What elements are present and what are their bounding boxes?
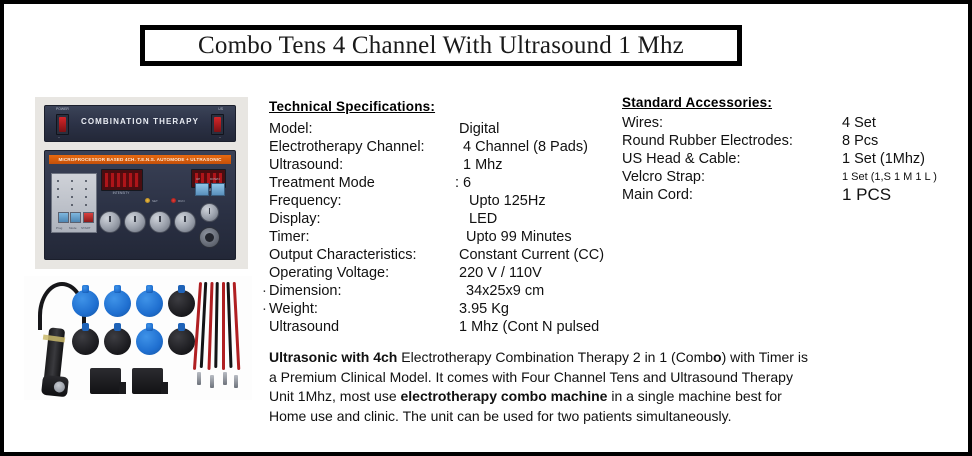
- matrix-indicator-dot: [71, 188, 73, 190]
- spec-row: US Head & Cable:1 Set (1Mhz): [622, 150, 962, 168]
- matrix-indicator-dot: [85, 188, 87, 190]
- power-switch-label: POWER: [56, 107, 69, 111]
- spec-label: Dimension:: [269, 282, 342, 300]
- spec-value: LED: [469, 210, 497, 228]
- spec-row: Timer:Upto 99 Minutes: [269, 228, 629, 246]
- mode-button: [70, 212, 81, 223]
- intensity-led-display: [101, 169, 143, 191]
- spec-row: Ultrasound1 Mhz (Cont N pulsed: [269, 318, 629, 336]
- electrode-pad: [136, 328, 163, 355]
- spec-label: Display:: [269, 210, 321, 228]
- spec-label: Model:: [269, 120, 313, 138]
- accessories-product-photo: [24, 276, 252, 400]
- channel-3-knob: [149, 211, 171, 233]
- lead-wire: [227, 282, 233, 368]
- spec-label: Treatment Mode: [269, 174, 375, 192]
- spec-row: Round Rubber Electrodes:8 Pcs: [622, 132, 962, 150]
- spec-value: 1 Mhz: [463, 156, 503, 174]
- spec-row: Treatment Mode: 6: [269, 174, 629, 192]
- product-description: Ultrasonic with 4ch Electrotherapy Combi…: [269, 348, 809, 426]
- ultrasound-connector-port: [199, 227, 220, 248]
- spec-value: 220 V / 110V: [459, 264, 542, 282]
- run-indicator-led: [171, 198, 176, 203]
- spec-row: Main Cord:1 PCS: [622, 186, 962, 204]
- ultrasound-switch-label: US: [218, 107, 223, 111]
- electrode-pad: [104, 328, 131, 355]
- spec-label: Output Characteristics:: [269, 246, 416, 264]
- spec-value: 34x25x9 cm: [466, 282, 544, 300]
- lead-wire: [207, 282, 213, 370]
- ultrasound-switch-sublabel: ~: [219, 136, 221, 140]
- spec-value: Digital: [459, 120, 499, 138]
- spec-label: Wires:: [622, 114, 663, 132]
- up-button-caption: UP: [196, 177, 200, 181]
- spec-label: Operating Voltage:: [269, 264, 389, 282]
- spec-value: Upto 125Hz: [469, 192, 546, 210]
- description-emphasis: Ultrasonic with 4ch: [269, 349, 397, 365]
- spec-value: 1 PCS: [842, 186, 891, 204]
- lead-wire: [214, 282, 219, 368]
- velcro-strap: [90, 368, 121, 394]
- spec-label: Velcro Strap:: [622, 168, 705, 186]
- spec-row: Operating Voltage:220 V / 110V: [269, 264, 629, 282]
- electrode-pad: [168, 290, 195, 317]
- spec-value: 3.95 Kg: [459, 300, 509, 318]
- matrix-indicator-dot: [71, 196, 73, 198]
- ultrasound-probe-head: [41, 375, 69, 398]
- spec-value: 4 Channel (8 Pads): [463, 138, 588, 156]
- spec-row: Electrotherapy Channel:4 Channel (8 Pads…: [269, 138, 629, 156]
- wire-plug: [210, 375, 214, 388]
- spec-row: Frequency:Upto 125Hz: [269, 192, 629, 210]
- electrode-pad: [72, 290, 99, 317]
- spec-row: Model:Digital: [269, 120, 629, 138]
- spec-label: Round Rubber Electrodes:: [622, 132, 793, 150]
- start-button: [83, 212, 94, 223]
- matrix-indicator-dot: [71, 204, 73, 206]
- spec-row: Wires:4 Set: [622, 114, 962, 132]
- technical-specifications-heading: Technical Specifications:: [269, 99, 435, 114]
- product-spec-sheet: Combo Tens 4 Channel With Ultrasound 1 M…: [0, 0, 972, 456]
- matrix-indicator-dot: [85, 196, 87, 198]
- page-title: Combo Tens 4 Channel With Ultrasound 1 M…: [198, 32, 684, 60]
- spec-label: US Head & Cable:: [622, 150, 740, 168]
- spec-label: Ultrasound:: [269, 156, 343, 174]
- spec-value: 1 Set (1Mhz): [842, 150, 925, 168]
- description-text: Electrotherapy Combination Therapy 2 in …: [397, 349, 713, 365]
- spec-value: 1 Mhz (Cont N pulsed: [459, 318, 599, 336]
- spec-row: Ultrasound:1 Mhz: [269, 156, 629, 174]
- down-button: [211, 183, 225, 196]
- matrix-indicator-dot: [57, 196, 59, 198]
- standard-accessories-heading: Standard Accessories:: [622, 95, 772, 110]
- spec-value: 4 Set: [842, 114, 876, 132]
- program-button: [58, 212, 69, 223]
- ultrasound-rocker-switch: [211, 114, 224, 135]
- matrix-indicator-dot: [71, 180, 73, 182]
- velcro-strap: [132, 368, 163, 394]
- set-indicator-label: SET: [152, 199, 158, 203]
- down-button-caption: DOWN: [210, 177, 220, 181]
- spec-label: Ultrasound: [269, 318, 339, 336]
- matrix-indicator-dot: [57, 180, 59, 182]
- mode-indicator-matrix: Prog Mode START: [51, 173, 97, 233]
- spec-row: Display:LED: [269, 210, 629, 228]
- ultrasound-intensity-knob: [200, 203, 219, 222]
- spec-value: 1 Set (1,S 1 M 1 L ): [842, 168, 937, 186]
- channel-2-knob: [124, 211, 146, 233]
- device-product-photo: POWER ~ COMBINATION THERAPY US ~ MICROPR…: [35, 97, 248, 269]
- electrode-pad: [72, 328, 99, 355]
- electrode-pad: [168, 328, 195, 355]
- lead-wire: [233, 282, 241, 370]
- start-button-caption: START: [81, 226, 91, 230]
- device-top-panel: POWER ~ COMBINATION THERAPY US ~: [44, 105, 236, 142]
- mode-button-caption: Mode: [69, 226, 77, 230]
- lead-wire: [222, 282, 225, 370]
- program-button-caption: Prog: [56, 226, 62, 230]
- device-brand-text: COMBINATION THERAPY: [45, 117, 235, 126]
- device-label-strip-text: MICROPROCESSOR BASED 4CH. T.E.N.S. AUTOM…: [58, 157, 221, 162]
- spec-label: Main Cord:: [622, 186, 693, 204]
- set-indicator-led: [145, 198, 150, 203]
- spec-value: Upto 99 Minutes: [466, 228, 572, 246]
- spec-row: Weight:3.95 Kg: [269, 300, 629, 318]
- wire-plug: [197, 372, 201, 385]
- wire-plug: [223, 372, 227, 385]
- device-control-panel: MICROPROCESSOR BASED 4CH. T.E.N.S. AUTOM…: [44, 150, 236, 260]
- run-indicator-label: RUN: [178, 199, 185, 203]
- spec-label: Frequency:: [269, 192, 342, 210]
- spec-row: Velcro Strap:1 Set (1,S 1 M 1 L ): [622, 168, 962, 186]
- spec-label: Timer:: [269, 228, 310, 246]
- intensity-display-caption: INTENSITY: [101, 191, 141, 195]
- description-emphasis: o: [713, 349, 722, 365]
- channel-1-knob: [99, 211, 121, 233]
- matrix-indicator-dot: [57, 188, 59, 190]
- spec-value: 8 Pcs: [842, 132, 878, 150]
- product-title-box: Combo Tens 4 Channel With Ultrasound 1 M…: [140, 25, 742, 66]
- spec-row: Output Characteristics:Constant Current …: [269, 246, 629, 264]
- description-emphasis: electrotherapy combo machine: [401, 388, 608, 404]
- matrix-indicator-dot: [85, 180, 87, 182]
- spec-label: Electrotherapy Channel:: [269, 138, 425, 156]
- channel-4-knob: [174, 211, 196, 233]
- spec-value: Constant Current (CC): [459, 246, 604, 264]
- power-switch-sublabel: ~: [58, 136, 60, 140]
- electrode-pad: [136, 290, 163, 317]
- matrix-indicator-dot: [85, 204, 87, 206]
- electrode-pad: [104, 290, 131, 317]
- spec-row: Dimension:34x25x9 cm: [269, 282, 629, 300]
- spec-label: Weight:: [269, 300, 318, 318]
- wire-plug: [234, 375, 238, 388]
- device-label-strip: MICROPROCESSOR BASED 4CH. T.E.N.S. AUTOM…: [49, 155, 231, 164]
- spec-value: : 6: [455, 174, 471, 192]
- up-button: [195, 183, 209, 196]
